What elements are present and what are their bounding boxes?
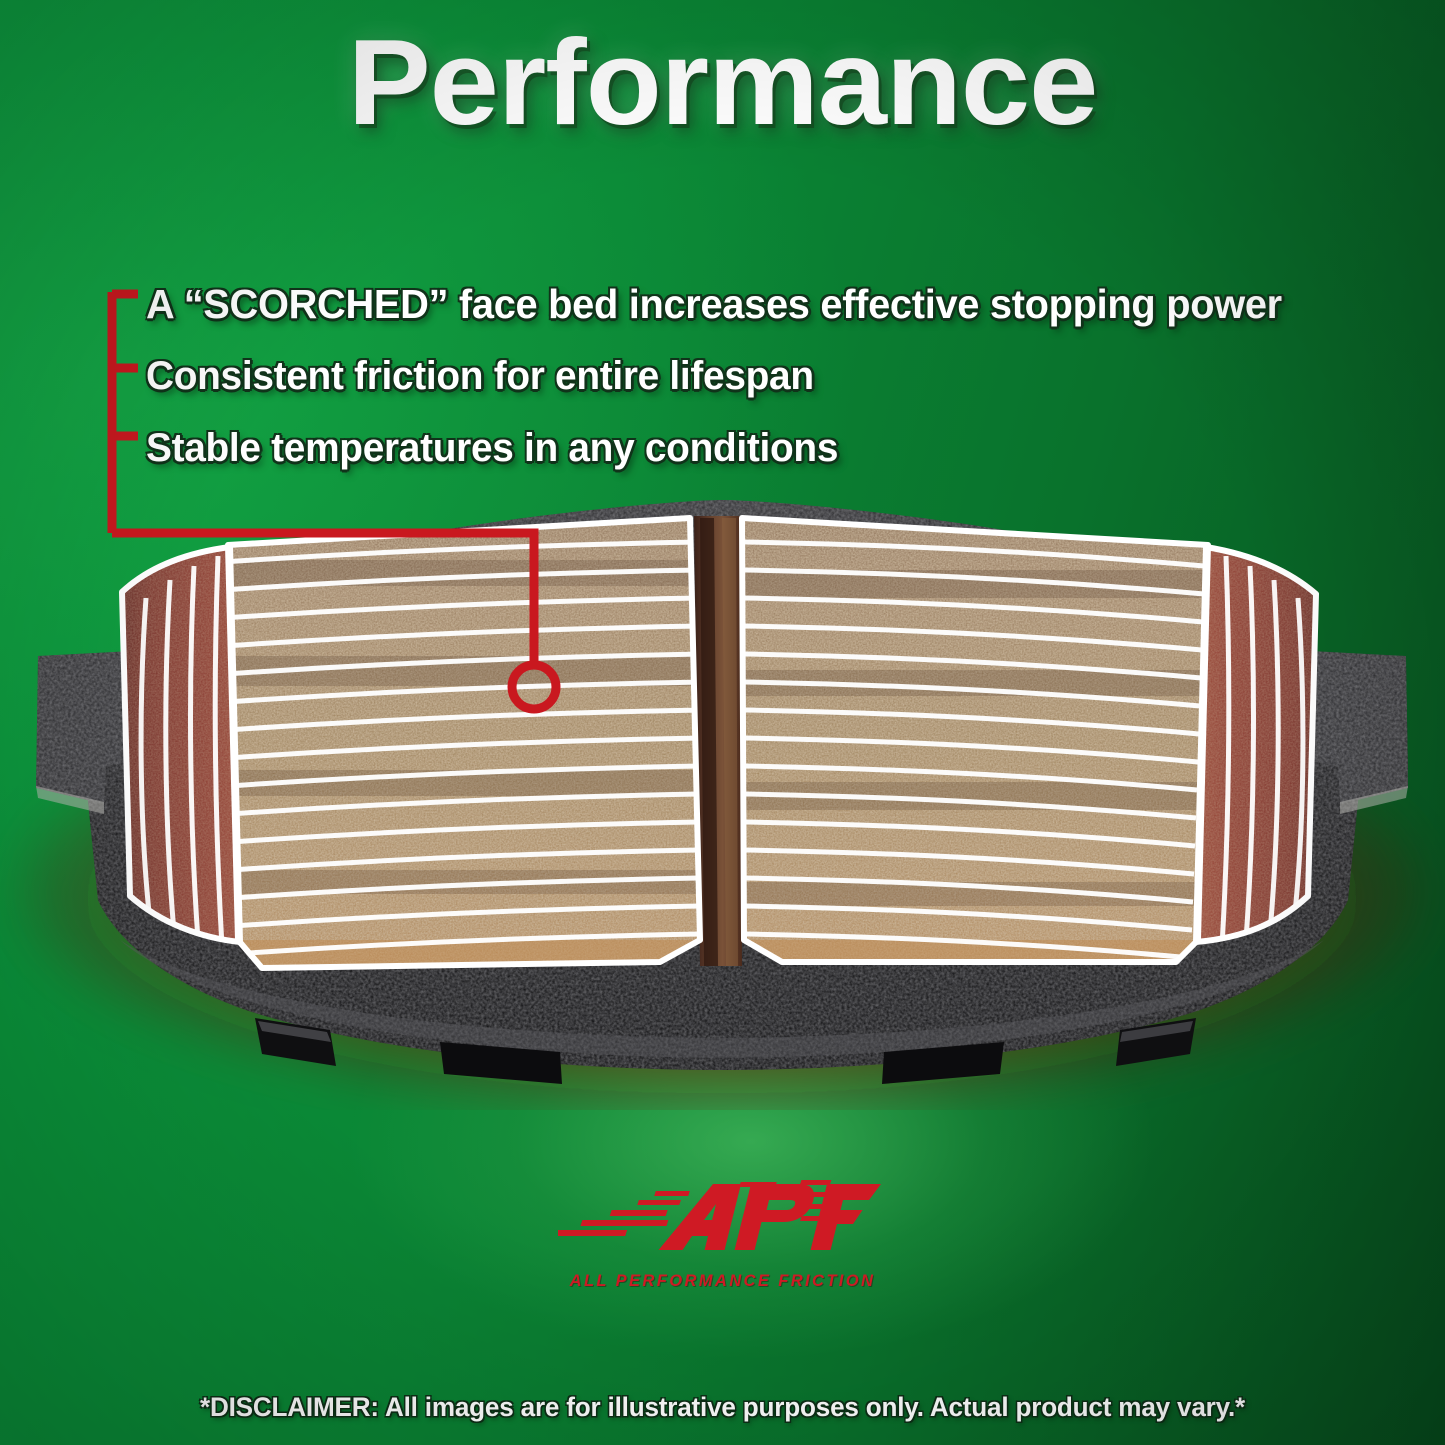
apf-logo-mark: [558, 1172, 888, 1268]
brake-pad-image: [0, 470, 1445, 1110]
poster-canvas: Performance: [0, 0, 1445, 1445]
brand-logo: ALL PERFORMANCE FRICTION: [0, 1172, 1445, 1291]
feature-item-3: Stable temperatures in any conditions: [146, 416, 1397, 480]
feature-item-2: Consistent friction for entire lifespan: [146, 344, 1397, 408]
disclaimer-text: *DISCLAIMER: All images are for illustra…: [11, 1392, 1434, 1423]
brake-pad-illustration: [0, 470, 1445, 1110]
feature-list: A “SCORCHED” face bed increases effectiv…: [146, 272, 1436, 480]
brand-tagline: ALL PERFORMANCE FRICTION: [0, 1272, 1445, 1291]
page-title: Performance: [0, 18, 1445, 146]
feature-item-1: A “SCORCHED” face bed increases effectiv…: [146, 272, 1397, 336]
